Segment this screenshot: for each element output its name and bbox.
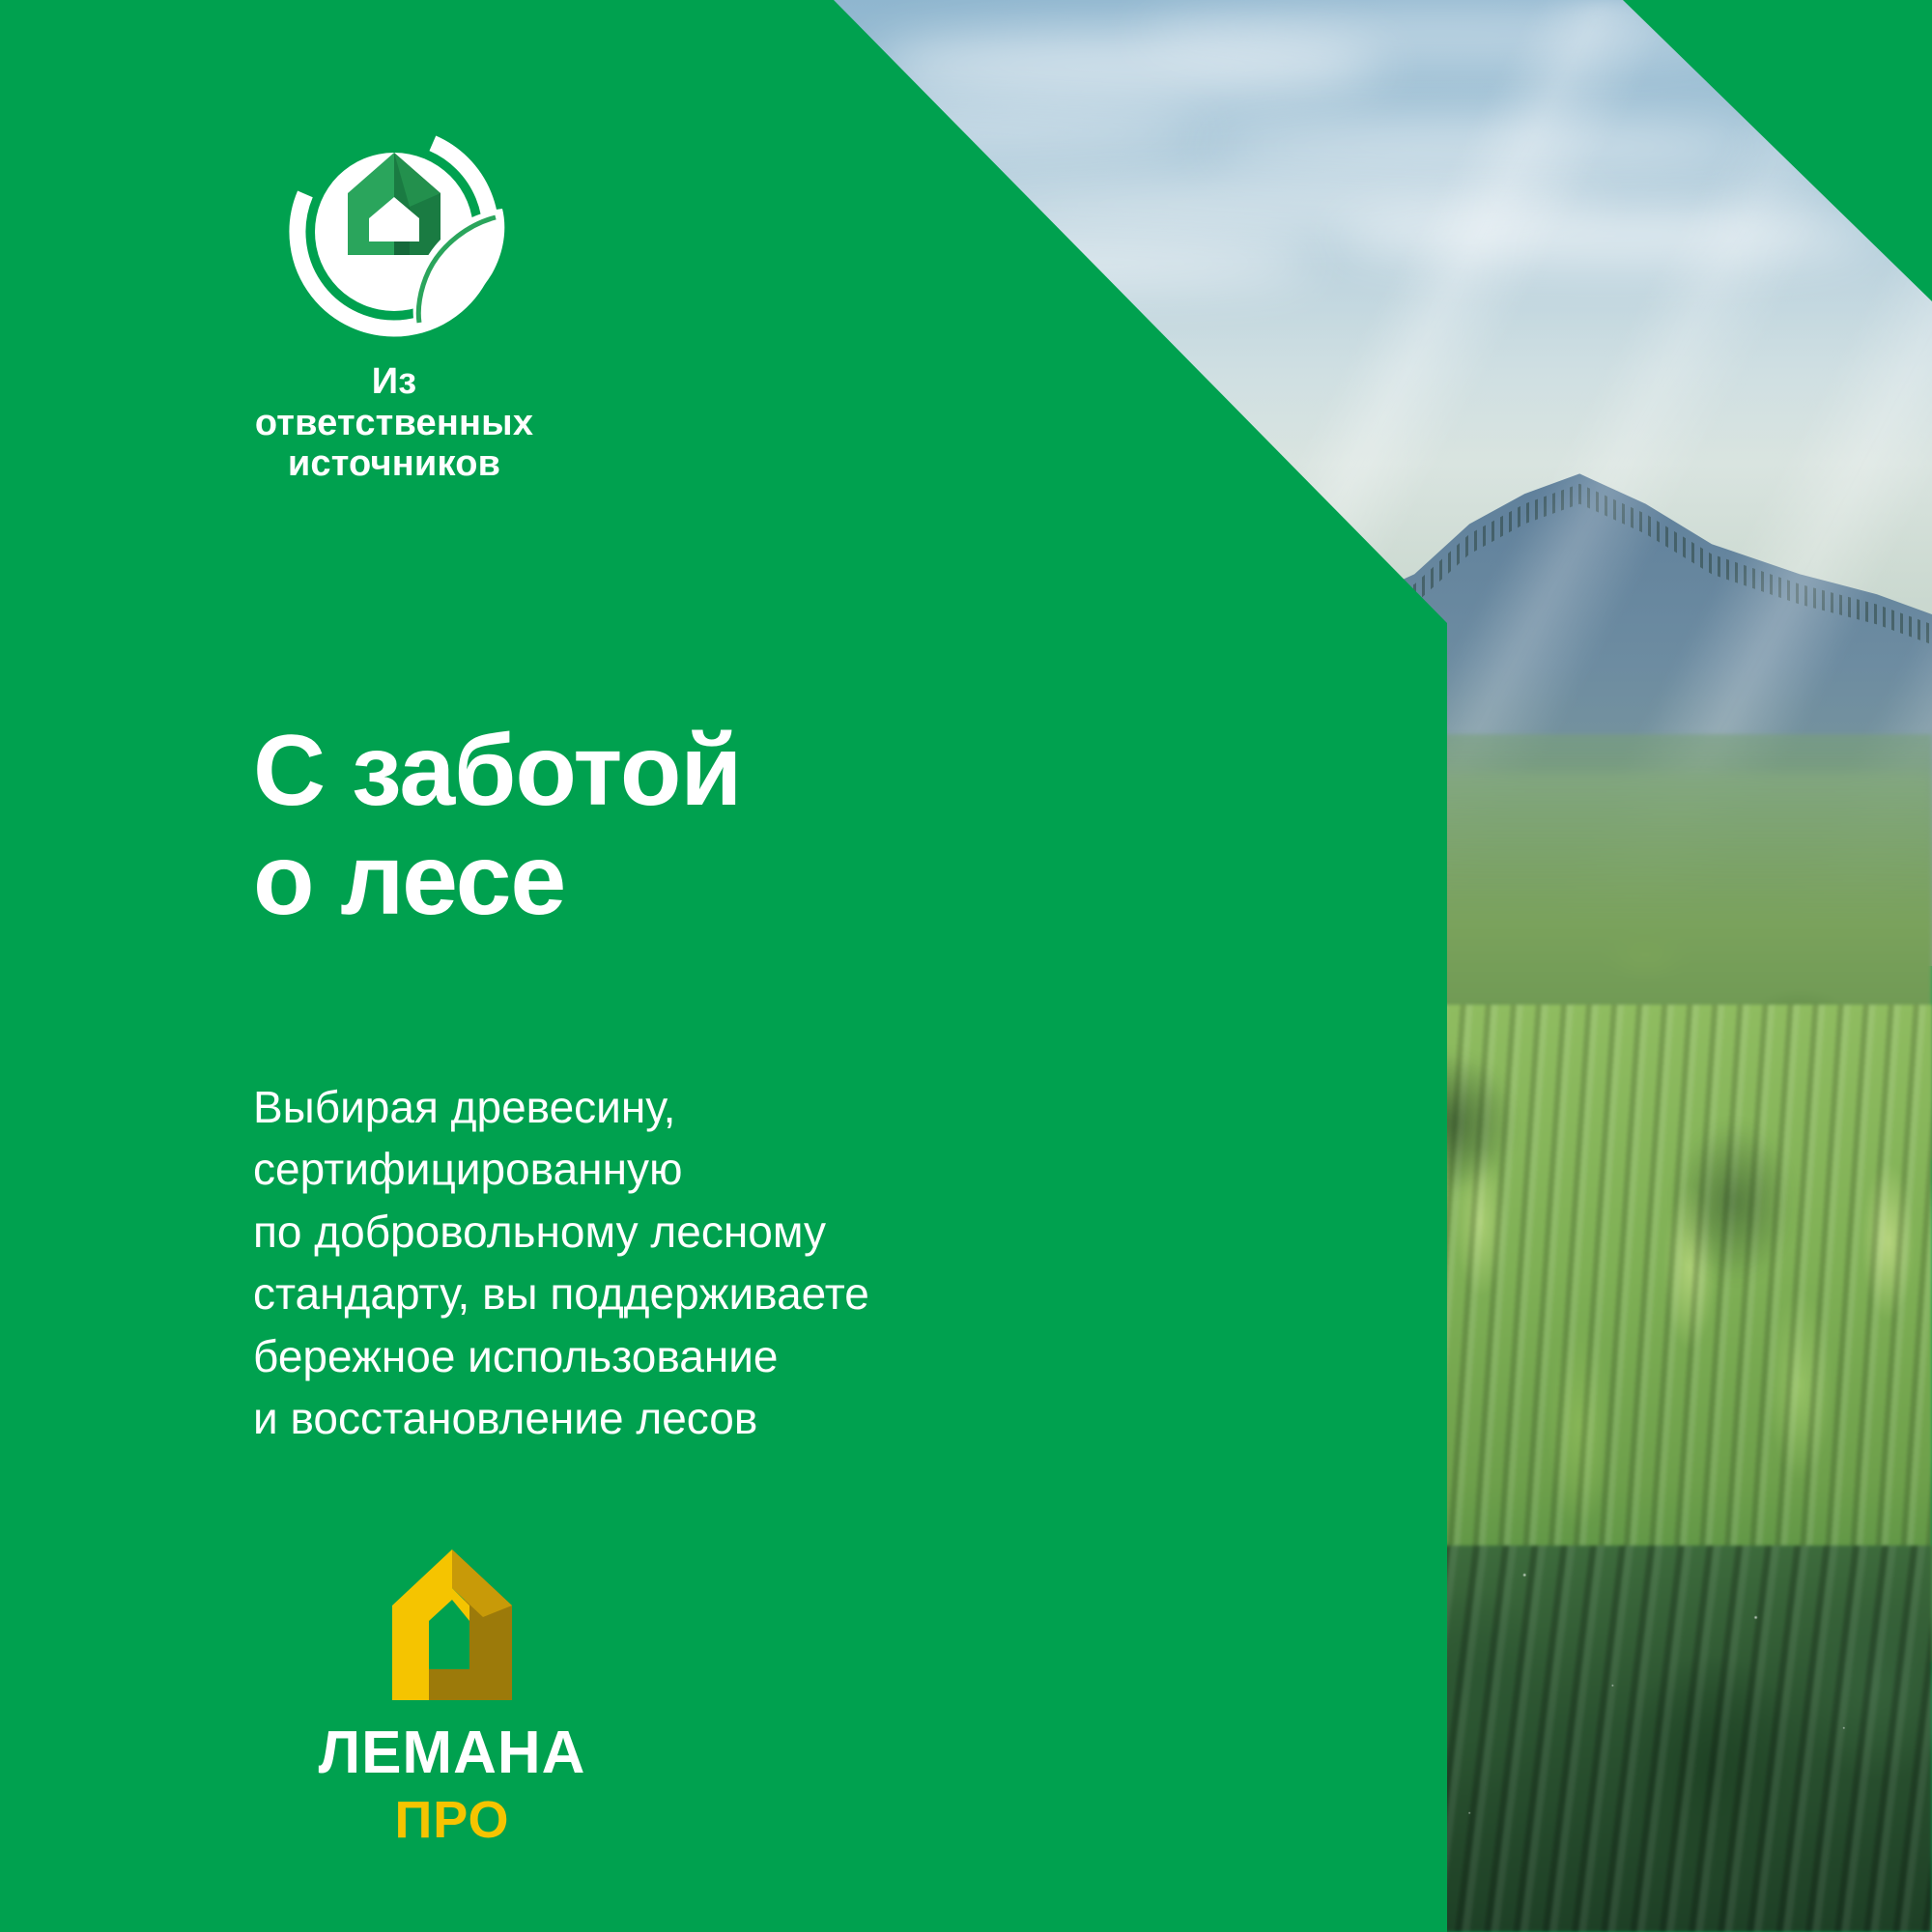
svg-text:ЛЕМАНА: ЛЕМАНА bbox=[319, 1719, 586, 1783]
brand-suffix-pro: ПРО bbox=[357, 1791, 547, 1847]
svg-text:ПРО: ПРО bbox=[394, 1791, 509, 1847]
page-title: С заботой о лесе bbox=[253, 717, 741, 936]
poster-canvas: Aerial view of a sunlit green forest wit… bbox=[0, 0, 1932, 1932]
brand-name-lemana: ЛЕМАНА bbox=[278, 1719, 626, 1783]
poster-content: Из ответственных источников С заботой о … bbox=[0, 0, 1932, 1932]
lemana-house-logo-icon bbox=[369, 1546, 535, 1706]
eco-badge-caption: Из ответственных источников bbox=[249, 361, 539, 485]
eco-badge: Из ответственных источников bbox=[249, 124, 539, 485]
brand-name-text: ЛЕМАНА bbox=[249, 1783, 250, 1784]
brand-lockup: ЛЕМАНА ЛЕМАНА ПРО ПРО bbox=[249, 1546, 655, 1847]
brand-suffix-text: ПРО bbox=[249, 1847, 250, 1848]
body-paragraph: Выбирая древесину, сертифицированную по … bbox=[253, 1076, 869, 1449]
house-leaf-circle-emblem-icon bbox=[265, 124, 524, 344]
